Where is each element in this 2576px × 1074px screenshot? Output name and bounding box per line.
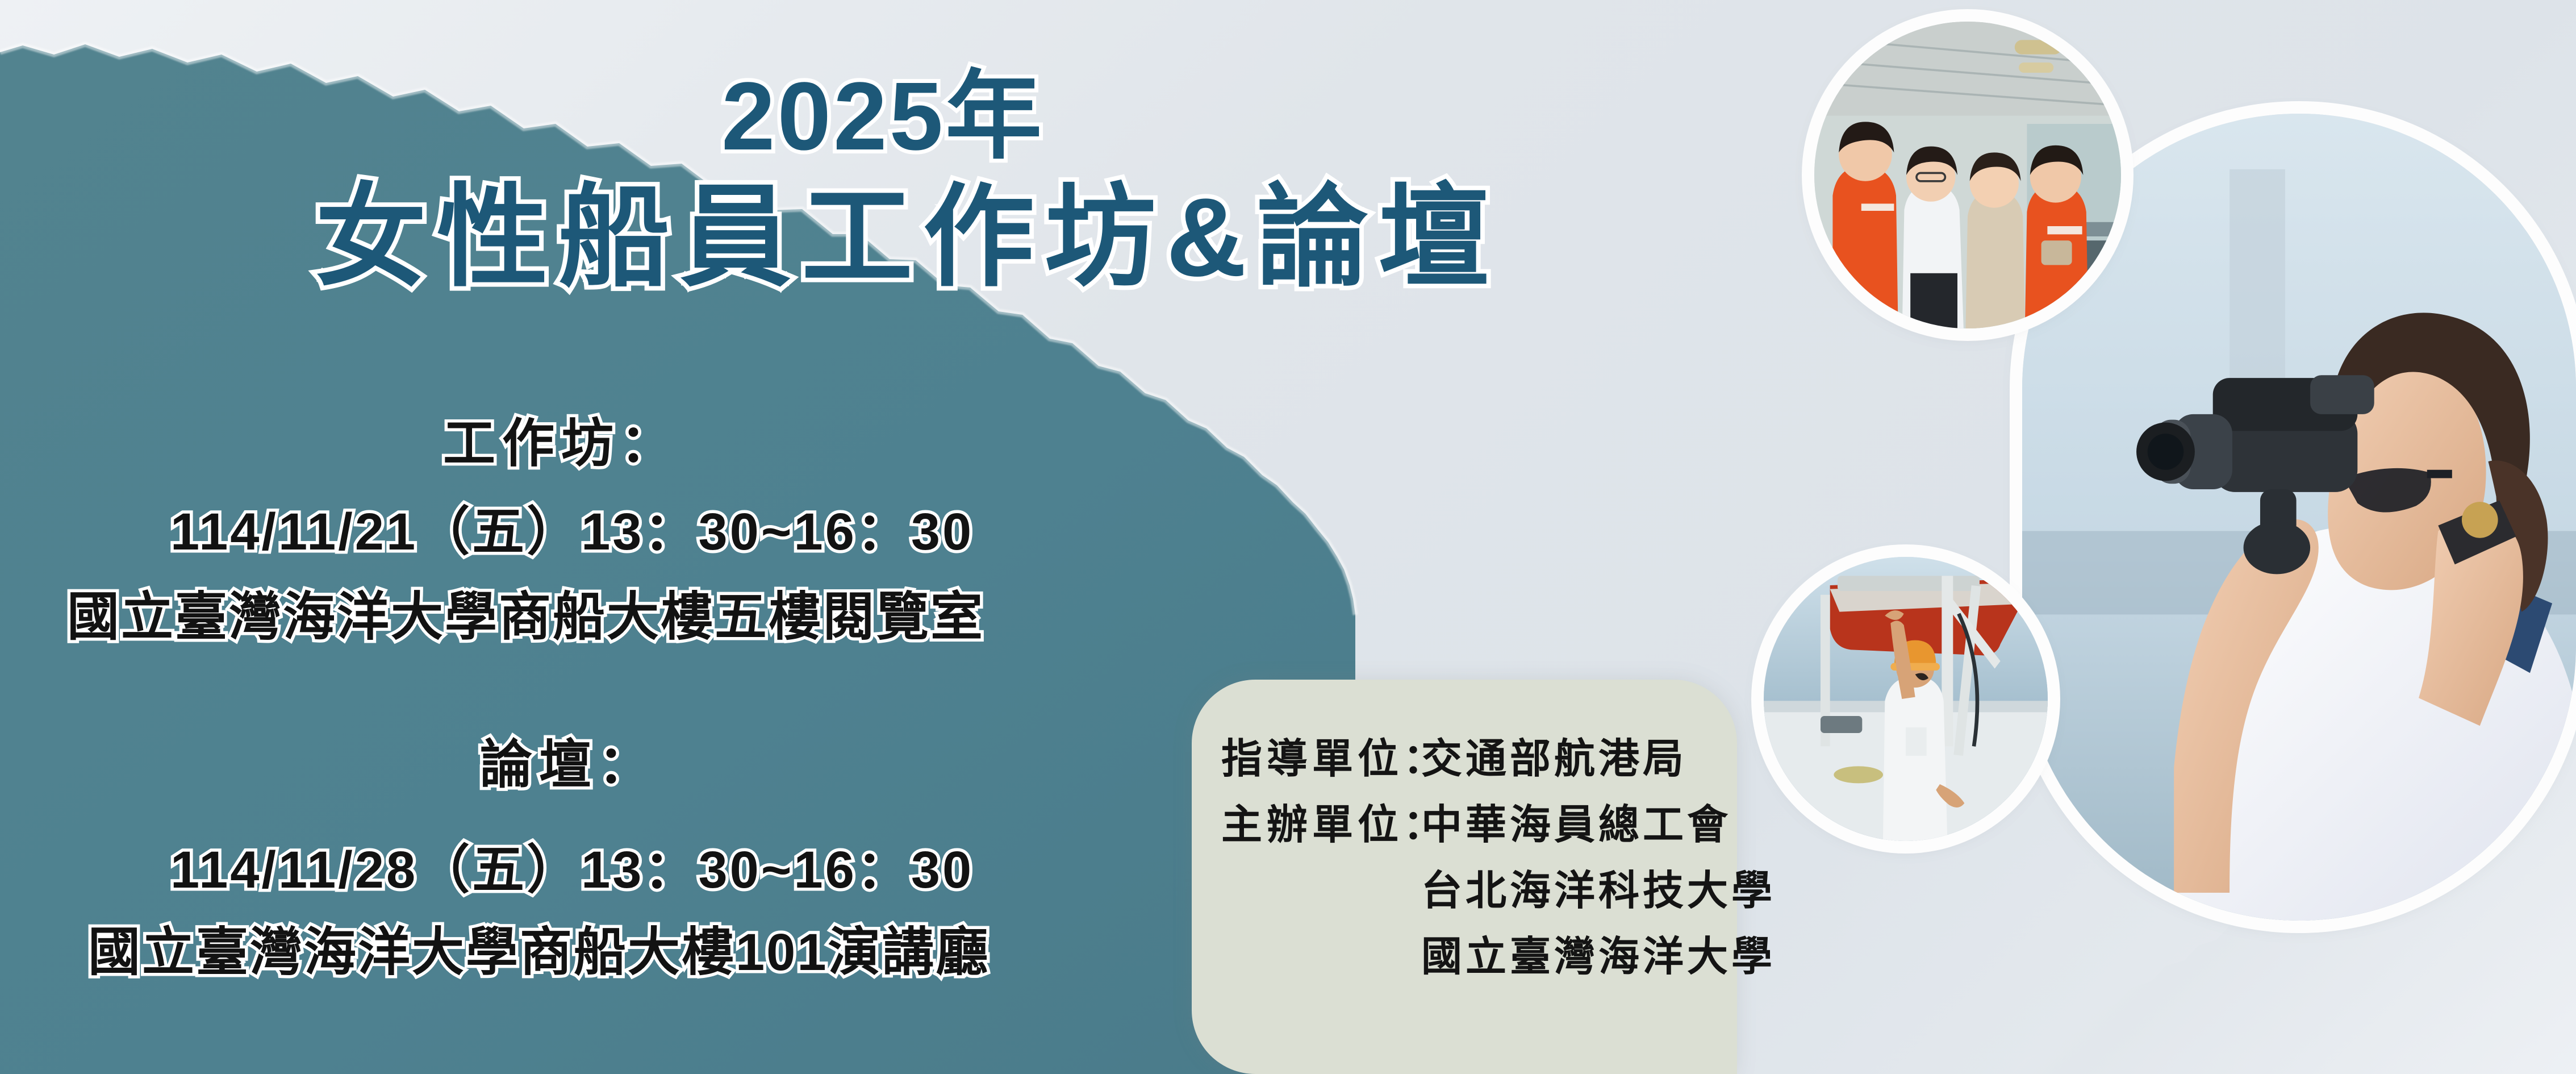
advisor-label: 指導單位： xyxy=(1221,739,1421,780)
lifeboat-officer-photo xyxy=(1764,557,2048,841)
bridge-group-photo xyxy=(1814,22,2121,328)
forum-label: 論壇： xyxy=(480,739,657,791)
forum-venue: 國立臺灣海洋大學商船大樓101演講廳 xyxy=(88,926,990,979)
host-value-2: 台北海洋科技大學 xyxy=(1421,871,1732,911)
event-banner: 2025年 女性船員工作坊&論壇 工作坊： 114/11/21（五）13：30~… xyxy=(0,0,2576,1074)
page-title-main: 女性船員工作坊&論壇 xyxy=(315,182,1500,293)
host-value-1: 中華海員總工會 xyxy=(1421,805,1731,846)
host-label: 主辦單位： xyxy=(1221,805,1421,846)
workshop-label: 工作坊： xyxy=(443,418,679,470)
advisor-value: 交通部航港局 xyxy=(1421,739,1687,780)
host-row: 主辦單位： 中華海員總工會 xyxy=(1221,805,1732,846)
advisor-row: 指導單位： 交通部航港局 xyxy=(1221,739,1732,780)
workshop-datetime: 114/11/21（五）13：30~16：30 xyxy=(170,506,974,558)
forum-datetime: 114/11/28（五）13：30~16：30 xyxy=(170,844,974,896)
workshop-venue: 國立臺灣海洋大學商船大樓五樓閱覽室 xyxy=(67,591,984,643)
page-title-year: 2025年 xyxy=(721,68,1044,165)
host-value-3: 國立臺灣海洋大學 xyxy=(1421,936,1732,977)
organizer-list: 指導單位： 交通部航港局 主辦單位： 中華海員總工會 台北海洋科技大學 國立臺灣… xyxy=(1221,739,1732,1002)
